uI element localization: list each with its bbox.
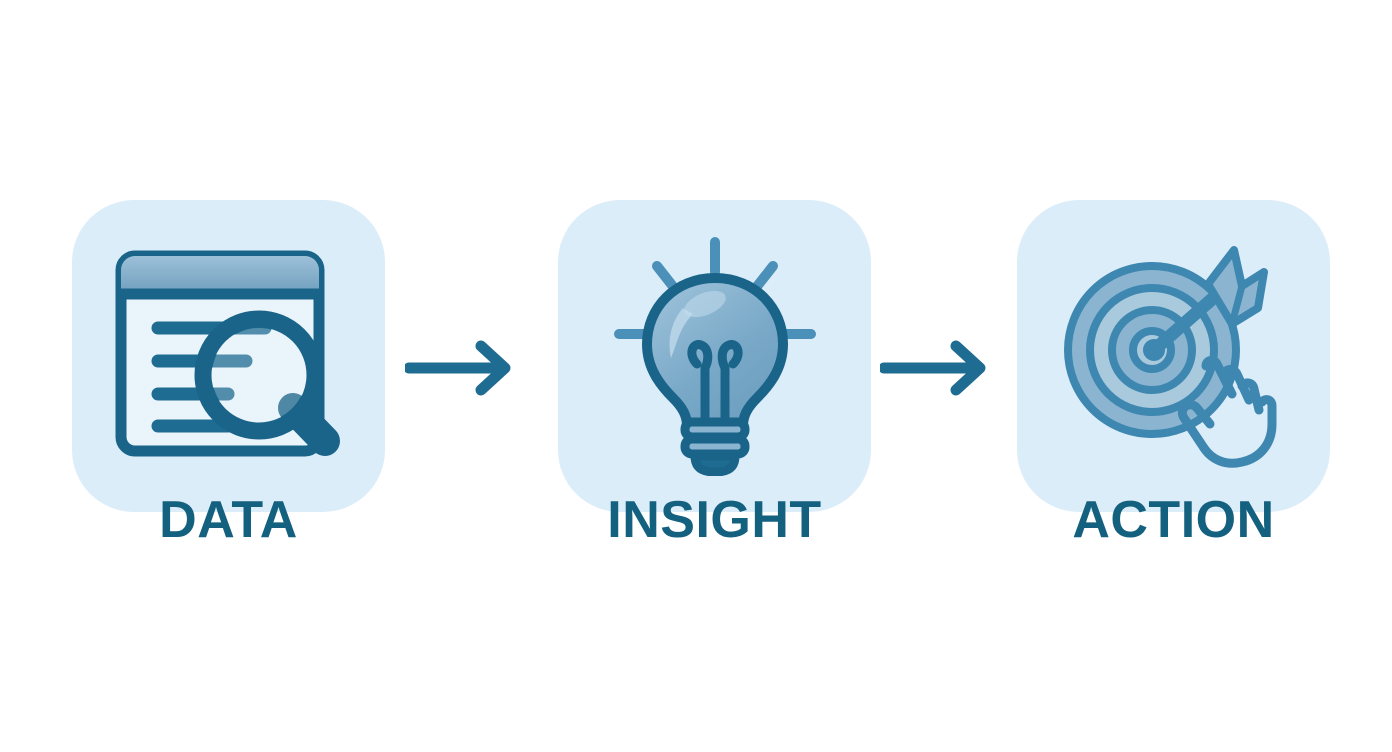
document-search-icon xyxy=(113,248,345,464)
diagram-canvas: DATA xyxy=(0,0,1392,752)
arrow-right-icon xyxy=(880,340,995,396)
target-dart-hand-icon xyxy=(1056,238,1292,474)
step-insight-tile[interactable] xyxy=(558,200,871,512)
arrow-right-icon xyxy=(405,340,520,396)
step-action[interactable]: ACTION xyxy=(1017,200,1330,546)
step-insight-label: INSIGHT xyxy=(607,494,821,546)
step-action-tile[interactable] xyxy=(1017,200,1330,512)
step-action-label: ACTION xyxy=(1072,494,1274,546)
step-data-label: DATA xyxy=(159,494,298,546)
step-data[interactable]: DATA xyxy=(72,200,385,546)
step-insight[interactable]: INSIGHT xyxy=(558,200,871,546)
step-data-tile[interactable] xyxy=(72,200,385,512)
lightbulb-icon xyxy=(605,236,825,476)
